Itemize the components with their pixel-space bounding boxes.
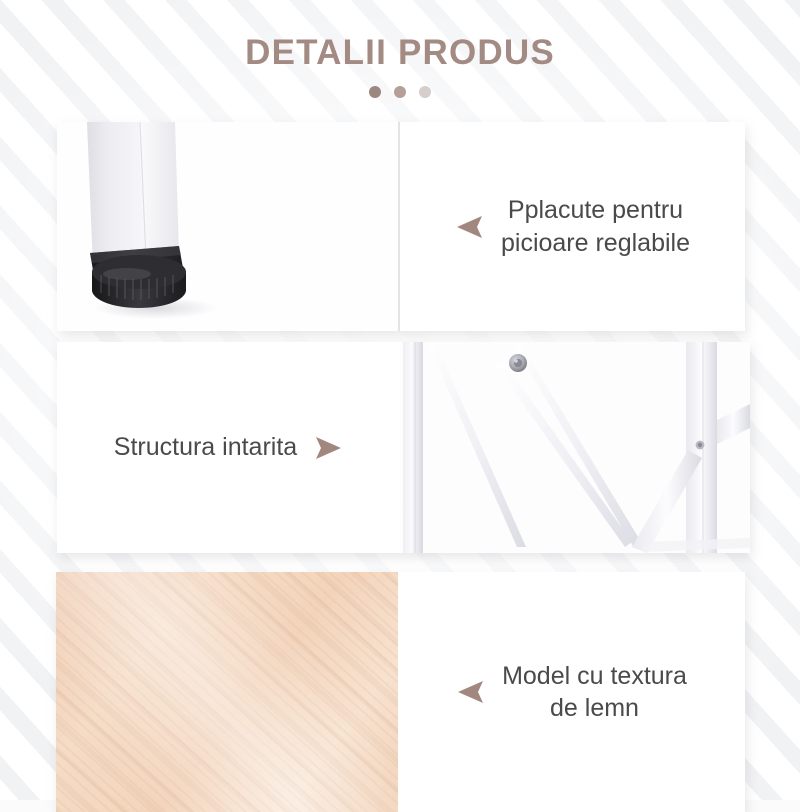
caption-area-reinforced-structure: Structura intarita — [57, 342, 400, 553]
detail-panel-adjustable-foot-pads: Pplacute pentru picioare reglabile — [57, 122, 745, 331]
dot-1 — [369, 86, 381, 98]
table-leg-illustration — [57, 122, 400, 331]
arrow-left-icon — [456, 679, 485, 705]
page-title: DETALII PRODUS — [0, 33, 800, 73]
product-photo-adjustable-foot-pad — [57, 122, 400, 331]
product-photo-wood-texture — [56, 572, 398, 812]
dot-separator — [0, 86, 800, 98]
arrow-right-icon — [314, 435, 343, 461]
caption-area-adjustable-foot-pads: Pplacute pentru picioare reglabile — [400, 122, 745, 331]
product-photo-reinforced-frame — [400, 342, 750, 553]
wood-sheen-overlay — [56, 572, 398, 812]
metal-x-frame-illustration — [400, 342, 750, 553]
panel-caption: Structura intarita — [114, 431, 297, 464]
dot-2 — [394, 86, 406, 98]
detail-panel-wood-grain-pattern: Model cu textura de lemn — [56, 572, 745, 812]
caption-area-wood-grain-pattern: Model cu textura de lemn — [398, 572, 745, 812]
panel-caption: Pplacute pentru picioare reglabile — [501, 194, 690, 259]
panel-caption: Model cu textura de lemn — [502, 660, 687, 725]
header: DETALII PRODUS — [0, 0, 800, 98]
arrow-left-icon — [455, 214, 484, 240]
dot-3 — [419, 86, 431, 98]
detail-panel-reinforced-structure: Structura intarita — [57, 342, 750, 553]
